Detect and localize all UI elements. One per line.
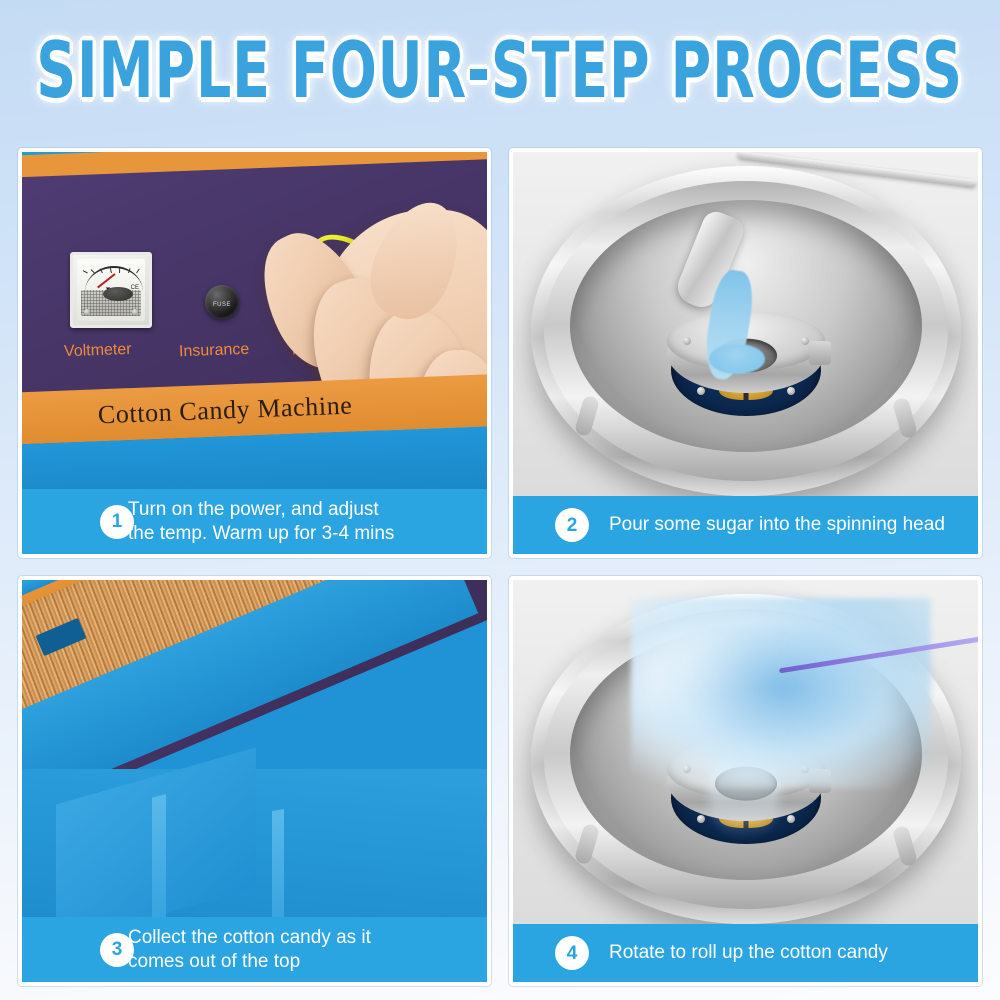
machine-brand-text: Cotton Candy Machine [98,391,354,431]
step-3-badge: 3 [100,933,134,967]
step-3-caption: 3 Collect the cotton candy as it comes o… [22,917,487,982]
step-1-photo: V CE 91L4 Voltmeter Insurance L Temperat… [22,152,487,489]
step-4-caption: 4 Rotate to roll up the cotton candy [513,924,978,982]
head-screw-2 [801,337,809,345]
spinning-head-tab [809,341,831,365]
gauge-screw-right [132,309,138,315]
sugar-in-head [709,344,765,374]
head-screw-4 [787,815,795,823]
step-4-badge: 4 [555,936,589,970]
step-card-3[interactable]: nce Temperature Cotton Candy Machine 3 C… [18,576,491,986]
step-card-2[interactable]: 2 Pour some sugar into the spinning head [509,148,982,558]
step-3-text: Collect the cotton candy as it comes out… [128,926,371,973]
step-1-badge: 1 [100,505,134,539]
head-screw-3 [697,387,705,395]
tray-divider-1 [152,794,166,917]
step-4-photo [513,580,978,924]
head-screw-4 [787,387,795,395]
page-header: SIMPLE FOUR-STEP PROCESS [0,0,1000,140]
step-card-4[interactable]: 4 Rotate to roll up the cotton candy [509,576,982,986]
step-2-badge: 2 [555,508,589,542]
head-screw-1 [683,337,691,345]
insurance-label: Insurance [179,341,250,361]
step-2-text: Pour some sugar into the spinning head [609,513,945,536]
steps-grid: V CE 91L4 Voltmeter Insurance L Temperat… [18,148,982,986]
step-card-1[interactable]: V CE 91L4 Voltmeter Insurance L Temperat… [18,148,491,558]
step-3-photo: nce Temperature Cotton Candy Machine [22,580,487,917]
voltmeter-label: Voltmeter [64,341,132,361]
step-2-photo [513,152,978,496]
tray-divider-2 [272,809,284,917]
gauge-face: V CE 91L4 [77,259,145,321]
step-2-caption: 2 Pour some sugar into the spinning head [513,496,978,554]
step-4-text: Rotate to roll up the cotton candy [609,941,888,964]
page-title: SIMPLE FOUR-STEP PROCESS [37,25,964,116]
step-1-text: Turn on the power, and adjust the temp. … [128,498,394,545]
gauge-screw-left [84,309,90,315]
gauge-coil [103,287,133,301]
step-1-caption: 1 Turn on the power, and adjust the temp… [22,489,487,554]
insurance-fuse-cap[interactable] [205,285,239,319]
head-screw-3 [697,815,705,823]
voltmeter-gauge: V CE 91L4 [70,252,152,328]
cotton-candy-core [663,624,893,764]
